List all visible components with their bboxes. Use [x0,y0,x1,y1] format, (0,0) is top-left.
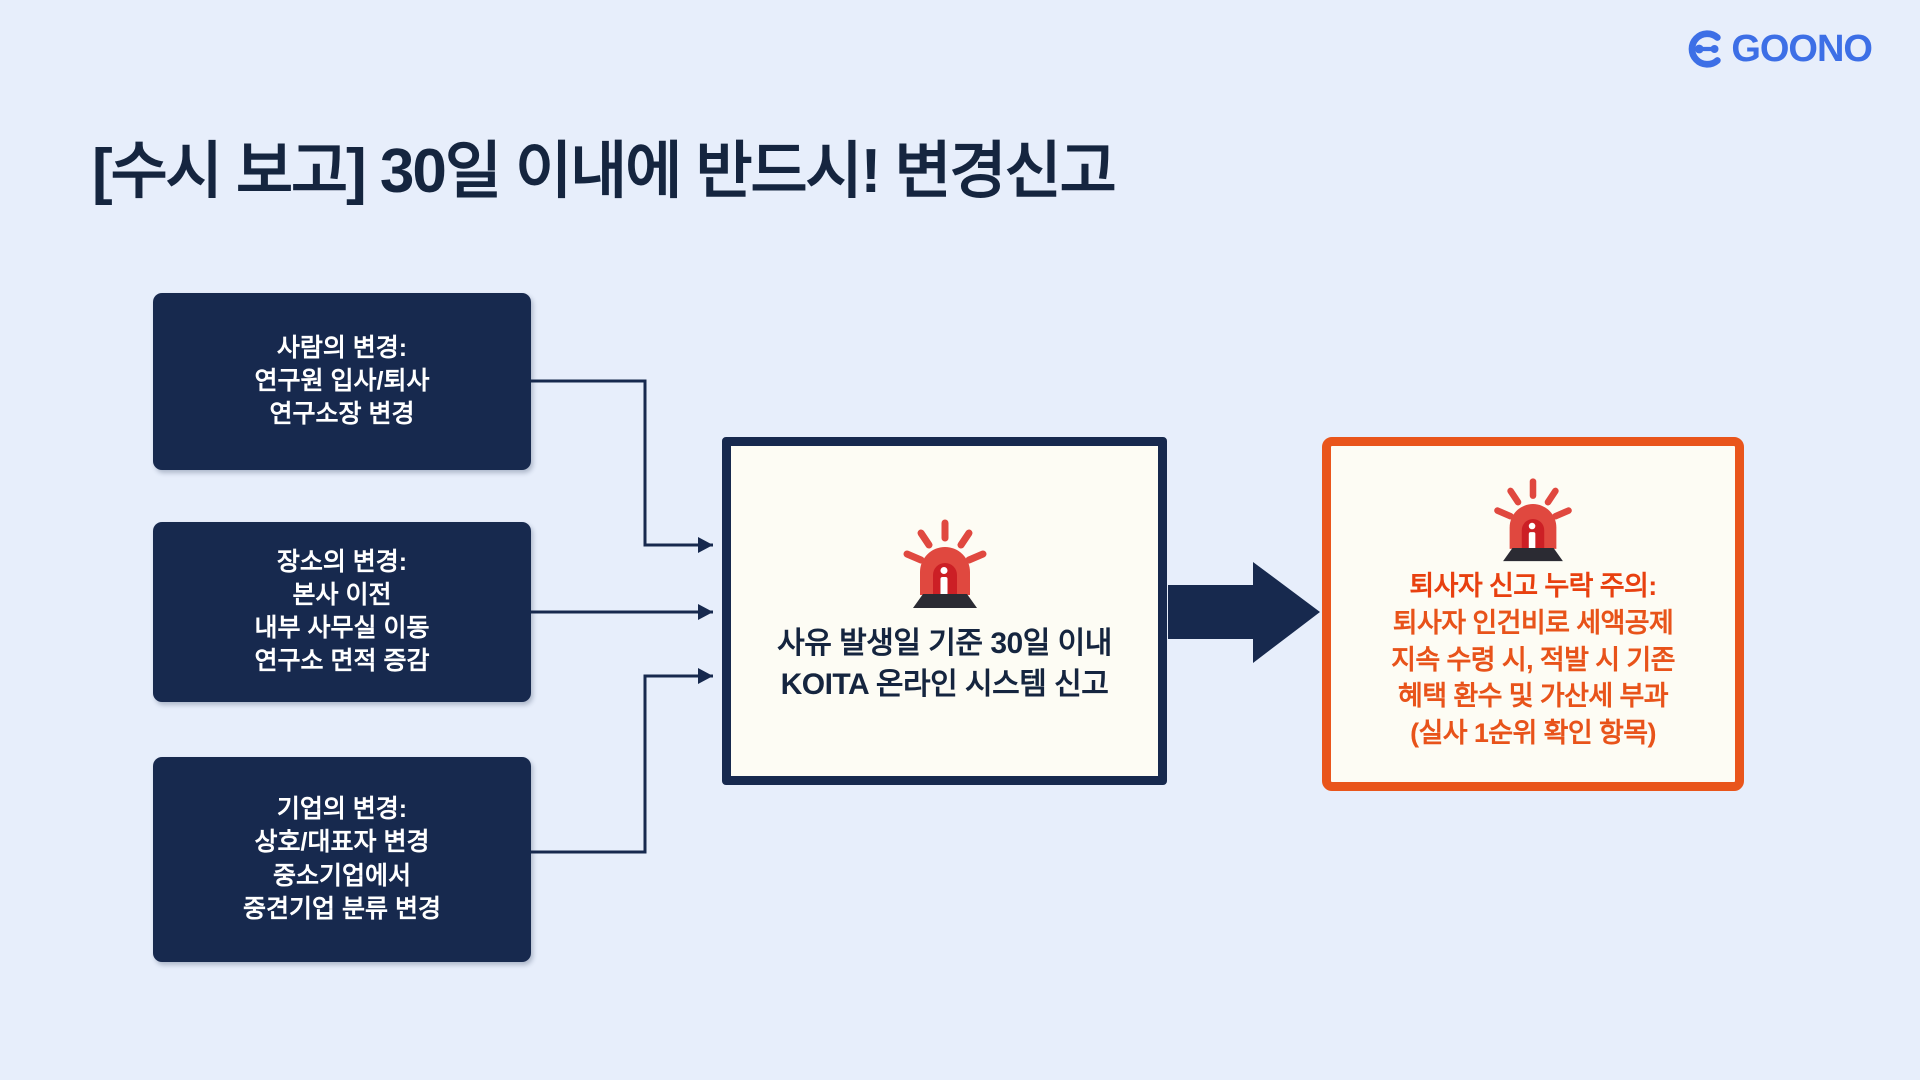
warning-box-line-1: 퇴사자 인건비로 세액공제 [1391,605,1675,642]
trigger-box-place-heading: 장소의 변경: [277,546,407,579]
siren-alert-icon [899,517,991,609]
trigger-box-company-heading: 기업의 변경: [277,793,407,826]
trigger-box-people-line-2: 연구소장 변경 [270,398,415,431]
trigger-box-company: 기업의 변경: 상호/대표자 변경 중소기업에서 중견기업 분류 변경 [153,757,531,962]
trigger-box-place-line-3: 연구소 면적 증감 [255,645,430,678]
big-flow-arrow [1168,562,1320,663]
trigger-box-place: 장소의 변경: 본사 이전 내부 사무실 이동 연구소 면적 증감 [153,522,531,702]
warning-box-heading: 퇴사자 신고 누락 주의: [1391,568,1675,605]
center-action-text: 사유 발생일 기준 30일 이내 KOITA 온라인 시스템 신고 [777,623,1112,706]
trigger-box-place-line-2: 내부 사무실 이동 [255,612,430,645]
warning-box-line-2: 지속 수령 시, 적발 시 기존 [1391,642,1675,679]
slide-canvas: GOONO [수시 보고] 30일 이내에 반드시! 변경신고 사람의 변경: … [0,0,1920,1080]
trigger-box-company-line-3: 중견기업 분류 변경 [243,893,441,926]
connector-company [531,668,713,852]
siren-alert-icon [1490,476,1576,562]
trigger-box-people-line-1: 연구원 입사/퇴사 [255,365,430,398]
trigger-box-people: 사람의 변경: 연구원 입사/퇴사 연구소장 변경 [153,293,531,470]
trigger-box-company-line-2: 중소기업에서 [273,860,411,893]
center-action-box: 사유 발생일 기준 30일 이내 KOITA 온라인 시스템 신고 [722,437,1167,785]
trigger-box-company-line-1: 상호/대표자 변경 [255,826,430,859]
trigger-box-people-heading: 사람의 변경: [277,332,407,365]
warning-box-text: 퇴사자 신고 누락 주의: 퇴사자 인건비로 세액공제 지속 수령 시, 적발 … [1391,568,1675,752]
warning-box-line-3: 혜택 환수 및 가산세 부과 [1391,678,1675,715]
warning-box: 퇴사자 신고 누락 주의: 퇴사자 인건비로 세액공제 지속 수령 시, 적발 … [1322,437,1744,791]
connector-people [531,381,713,553]
center-action-line-2: KOITA 온라인 시스템 신고 [777,664,1112,705]
connector-place [531,604,713,620]
warning-box-line-4: (실사 1순위 확인 항목) [1391,715,1675,752]
center-action-line-1: 사유 발생일 기준 30일 이내 [777,623,1112,664]
trigger-box-place-line-1: 본사 이전 [293,579,392,612]
